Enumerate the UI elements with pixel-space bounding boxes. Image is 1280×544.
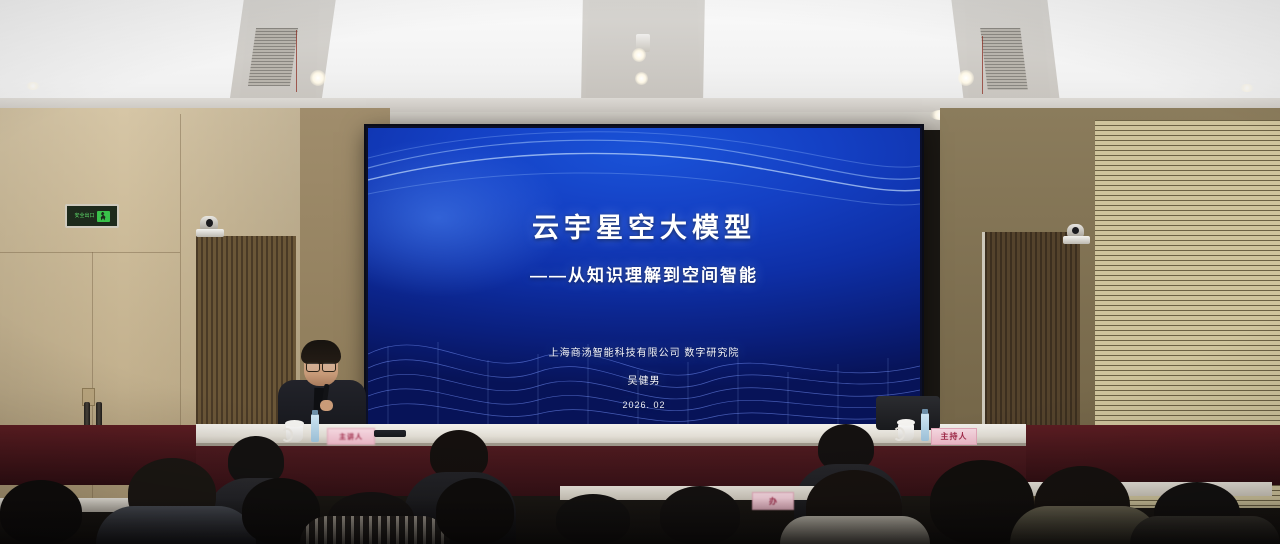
presenter: [276, 336, 368, 428]
foreground-shadow: [0, 498, 1280, 544]
ptz-camera-left-base: [196, 229, 224, 237]
slide-text-block: 云宇星空大模型 ——从知识理解到空间智能 上海商汤智能科技有限公司 数字研究院 …: [368, 128, 920, 424]
laptop-speaker: [374, 430, 406, 437]
slide-title: 云宇星空大模型: [532, 206, 756, 245]
ptz-camera-right-lens: [1072, 227, 1079, 234]
placard-speaker: 主讲人: [327, 428, 375, 445]
teacup-host-handle: [893, 427, 905, 441]
teacup-speaker-handle: [281, 428, 293, 442]
running-man-icon: [97, 211, 110, 222]
ptz-camera-right: [1063, 224, 1093, 248]
ceiling-downlight-3: [635, 72, 648, 85]
exit-sign-label-left: 安全出口: [74, 214, 94, 219]
slide-surface: 云宇星空大模型 ——从知识理解到空间智能 上海商汤智能科技有限公司 数字研究院 …: [368, 128, 920, 424]
ptz-camera-left-lens: [206, 219, 213, 227]
water-bottle-speaker: [311, 414, 319, 442]
slide-presenter-name: 吴健男: [628, 372, 661, 387]
slide-date: 2026. 02: [622, 400, 665, 410]
emergency-exit-sign: 安全出口: [65, 204, 119, 228]
ptz-camera-left: [196, 216, 226, 240]
water-bottle-host: [921, 413, 929, 441]
ceiling-downlight-12: [1240, 84, 1254, 92]
water-bottle-speaker-cap: [312, 410, 318, 415]
teacup-host-lid: [897, 419, 915, 426]
ptz-camera-right-base: [1063, 236, 1090, 244]
glasses-right-lens: [322, 362, 336, 372]
glasses-left-lens: [306, 362, 320, 372]
conference-room-photo: 安全出口: [0, 0, 1280, 544]
presenter-hair: [301, 340, 341, 364]
slide-subtitle: ——从知识理解到空间智能: [530, 261, 758, 286]
ceiling-wire-left: [296, 30, 297, 92]
presenter-hand: [320, 400, 333, 411]
ceiling-downlight-2: [632, 48, 646, 62]
air-vent-right: [980, 28, 1028, 90]
slide-organization: 上海商汤智能科技有限公司 数字研究院: [549, 344, 740, 359]
air-vent-left: [248, 28, 298, 86]
ceiling-downlight-1: [310, 70, 326, 86]
placard-host: 主持人: [931, 428, 977, 445]
ceiling-wire-right: [982, 36, 983, 94]
led-presentation-screen: 云宇星空大模型 ——从知识理解到空间智能 上海商汤智能科技有限公司 数字研究院 …: [366, 126, 922, 426]
ceiling-downlight-4: [958, 70, 974, 86]
glasses-icon: [306, 362, 336, 370]
water-bottle-host-cap: [922, 409, 928, 414]
teacup-speaker-lid: [285, 420, 304, 427]
wall-panel-seam-horizontal: [0, 252, 180, 253]
ceiling-downlight-11: [26, 82, 40, 90]
